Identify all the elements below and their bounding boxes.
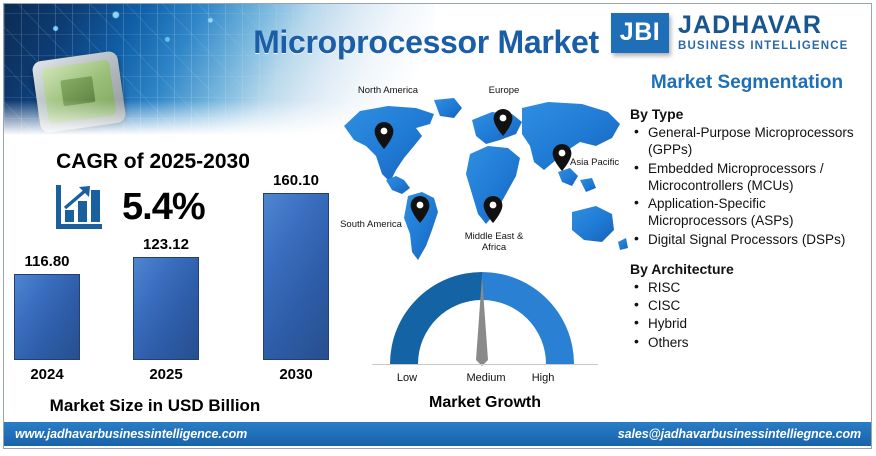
segmentation-heading: Market Segmentation <box>628 72 866 94</box>
pin-asia-pacific <box>553 144 572 171</box>
list-item: Digital Signal Processors (DSPs) <box>628 231 866 248</box>
company-logo: JBI JADHAVAR BUSINESS INTELLIGENCE <box>611 7 861 58</box>
footer-email[interactable]: sales@jadhavarbusinessintelliegnce.com <box>618 427 861 441</box>
map-label-asia-pacific: Asia Pacific <box>570 158 634 169</box>
footer-bar: www.jadhavarbusinessintelligence.com sal… <box>4 422 872 446</box>
market-growth-gauge <box>384 272 580 368</box>
segmentation-list-by-type: General-Purpose Microprocessors (GPPs) E… <box>628 124 866 248</box>
bar-2024 <box>14 274 80 360</box>
bar-label-2030: 2030 <box>263 366 329 383</box>
chart-caption: Market Size in USD Billion <box>10 396 300 416</box>
world-map: North America Europe Asia Pacific South … <box>330 84 630 269</box>
logo-wordmark: JADHAVAR BUSINESS INTELLIGENCE <box>678 13 848 53</box>
list-item: RISC <box>628 279 866 296</box>
logo-mark-jbi: JBI <box>611 13 669 53</box>
gauge-tick-medium: Medium <box>450 372 522 384</box>
meaa-line1: Middle East & <box>465 231 524 242</box>
list-item: Application-Specific Microprocessors (AS… <box>628 195 866 230</box>
bar-column-2030: 160.10 2030 <box>263 0 329 360</box>
bar-label-2025: 2025 <box>133 366 199 383</box>
gauge-svg <box>384 272 580 368</box>
segmentation-group-title-by-type: By Type <box>630 106 866 122</box>
map-label-europe: Europe <box>472 86 536 97</box>
list-item: Others <box>628 334 866 351</box>
list-item: Embedded Microprocessors / Microcontroll… <box>628 160 866 195</box>
map-label-middle-east-africa: Middle East &Africa <box>442 232 546 254</box>
gauge-arc-right <box>482 272 574 364</box>
gauge-caption: Market Growth <box>370 394 600 412</box>
bar-2025 <box>133 257 199 360</box>
list-item: CISC <box>628 297 866 314</box>
gauge-tick-low: Low <box>378 372 436 384</box>
infographic-page: Microprocessor Market JBI JADHAVAR BUSIN… <box>0 0 876 456</box>
gauge-baseline <box>372 364 598 365</box>
bar-column-2024: 116.80 2024 <box>14 0 80 360</box>
map-label-north-america: North America <box>338 86 438 97</box>
segmentation-group-title-by-architecture: By Architecture <box>630 261 866 277</box>
bar-2030 <box>263 193 329 360</box>
map-label-south-america: South America <box>328 220 414 231</box>
segmentation-list-by-architecture: RISC CISC Hybrid Others <box>628 279 866 351</box>
meaa-line2: Africa <box>482 242 506 253</box>
market-segmentation-panel: Market Segmentation By Type General-Purp… <box>628 72 866 364</box>
footer-website[interactable]: www.jadhavarbusinessintelligence.com <box>15 427 247 441</box>
logo-tagline: BUSINESS INTELLIGENCE <box>678 41 848 53</box>
list-item: Hybrid <box>628 315 866 332</box>
bar-label-2024: 2024 <box>14 366 80 383</box>
gauge-arc-left <box>390 272 482 364</box>
bar-column-2025: 123.12 2025 <box>133 0 199 360</box>
gauge-tick-high: High <box>514 372 572 384</box>
list-item: General-Purpose Microprocessors (GPPs) <box>628 124 866 159</box>
logo-company-name: JADHAVAR <box>678 13 848 38</box>
